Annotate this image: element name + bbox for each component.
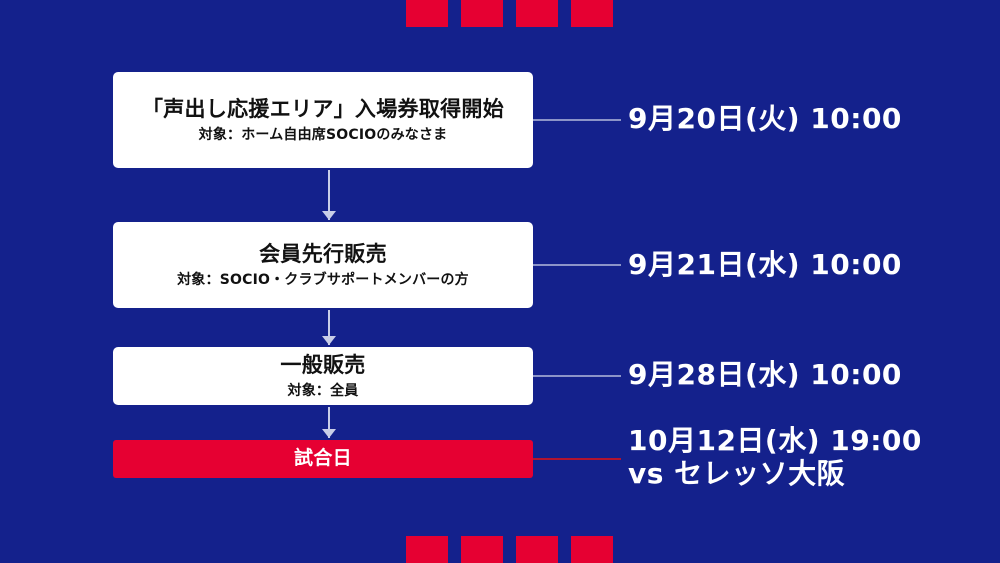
flow-step-match-day: 試合日: [113, 440, 533, 478]
flow-step-title: 会員先行販売: [259, 241, 387, 267]
flow-step-subtitle: 対象：ホーム自由席SOCIOのみなさま: [199, 126, 448, 144]
flow-step-member-presale: 会員先行販売 対象：SOCIO・クラブサポートメンバーの方: [113, 222, 533, 308]
decorative-tick-bottom-2: [461, 536, 503, 563]
decorative-tick-bottom-1: [406, 536, 448, 563]
flow-connector-2: [533, 264, 621, 266]
flow-step-date-2: 9月21日(水) 10:00: [628, 248, 902, 281]
ticket-sales-timeline-graphic: 「声出し応援エリア」入場券取得開始 対象：ホーム自由席SOCIOのみなさま 9月…: [0, 0, 1000, 563]
flow-step-voice-support-area-entry: 「声出し応援エリア」入場券取得開始 対象：ホーム自由席SOCIOのみなさま: [113, 72, 533, 168]
flow-connector-1: [533, 119, 621, 121]
arrow-head-icon: [322, 336, 336, 345]
flow-arrow-down-3: [322, 407, 336, 438]
flow-arrow-down-2: [322, 310, 336, 345]
decorative-tick-top-3: [516, 0, 558, 27]
decorative-tick-bottom-4: [571, 536, 613, 563]
arrow-head-icon: [322, 429, 336, 438]
flow-step-title: 一般販売: [280, 352, 365, 378]
flow-connector-4: [533, 458, 621, 460]
flow-step-title: 「声出し応援エリア」入場券取得開始: [142, 96, 504, 122]
decorative-tick-top-2: [461, 0, 503, 27]
match-datetime: 10月12日(水) 19:00: [628, 424, 922, 457]
flow-step-subtitle: 対象：SOCIO・クラブサポートメンバーの方: [177, 271, 469, 289]
flow-step-date-4: 10月12日(水) 19:00 vs セレッソ大阪: [628, 424, 922, 490]
flow-step-title: 試合日: [294, 447, 352, 471]
match-opponent: vs セレッソ大阪: [628, 457, 922, 490]
flow-step-general-sale: 一般販売 対象：全員: [113, 347, 533, 405]
decorative-tick-top-4: [571, 0, 613, 27]
arrow-head-icon: [322, 211, 336, 220]
flow-step-date-3: 9月28日(水) 10:00: [628, 358, 902, 391]
flow-arrow-down-1: [322, 170, 336, 220]
flow-step-date-1: 9月20日(火) 10:00: [628, 102, 902, 135]
flow-step-subtitle: 対象：全員: [288, 382, 359, 400]
flow-connector-3: [533, 375, 621, 377]
decorative-tick-top-1: [406, 0, 448, 27]
decorative-tick-bottom-3: [516, 536, 558, 563]
